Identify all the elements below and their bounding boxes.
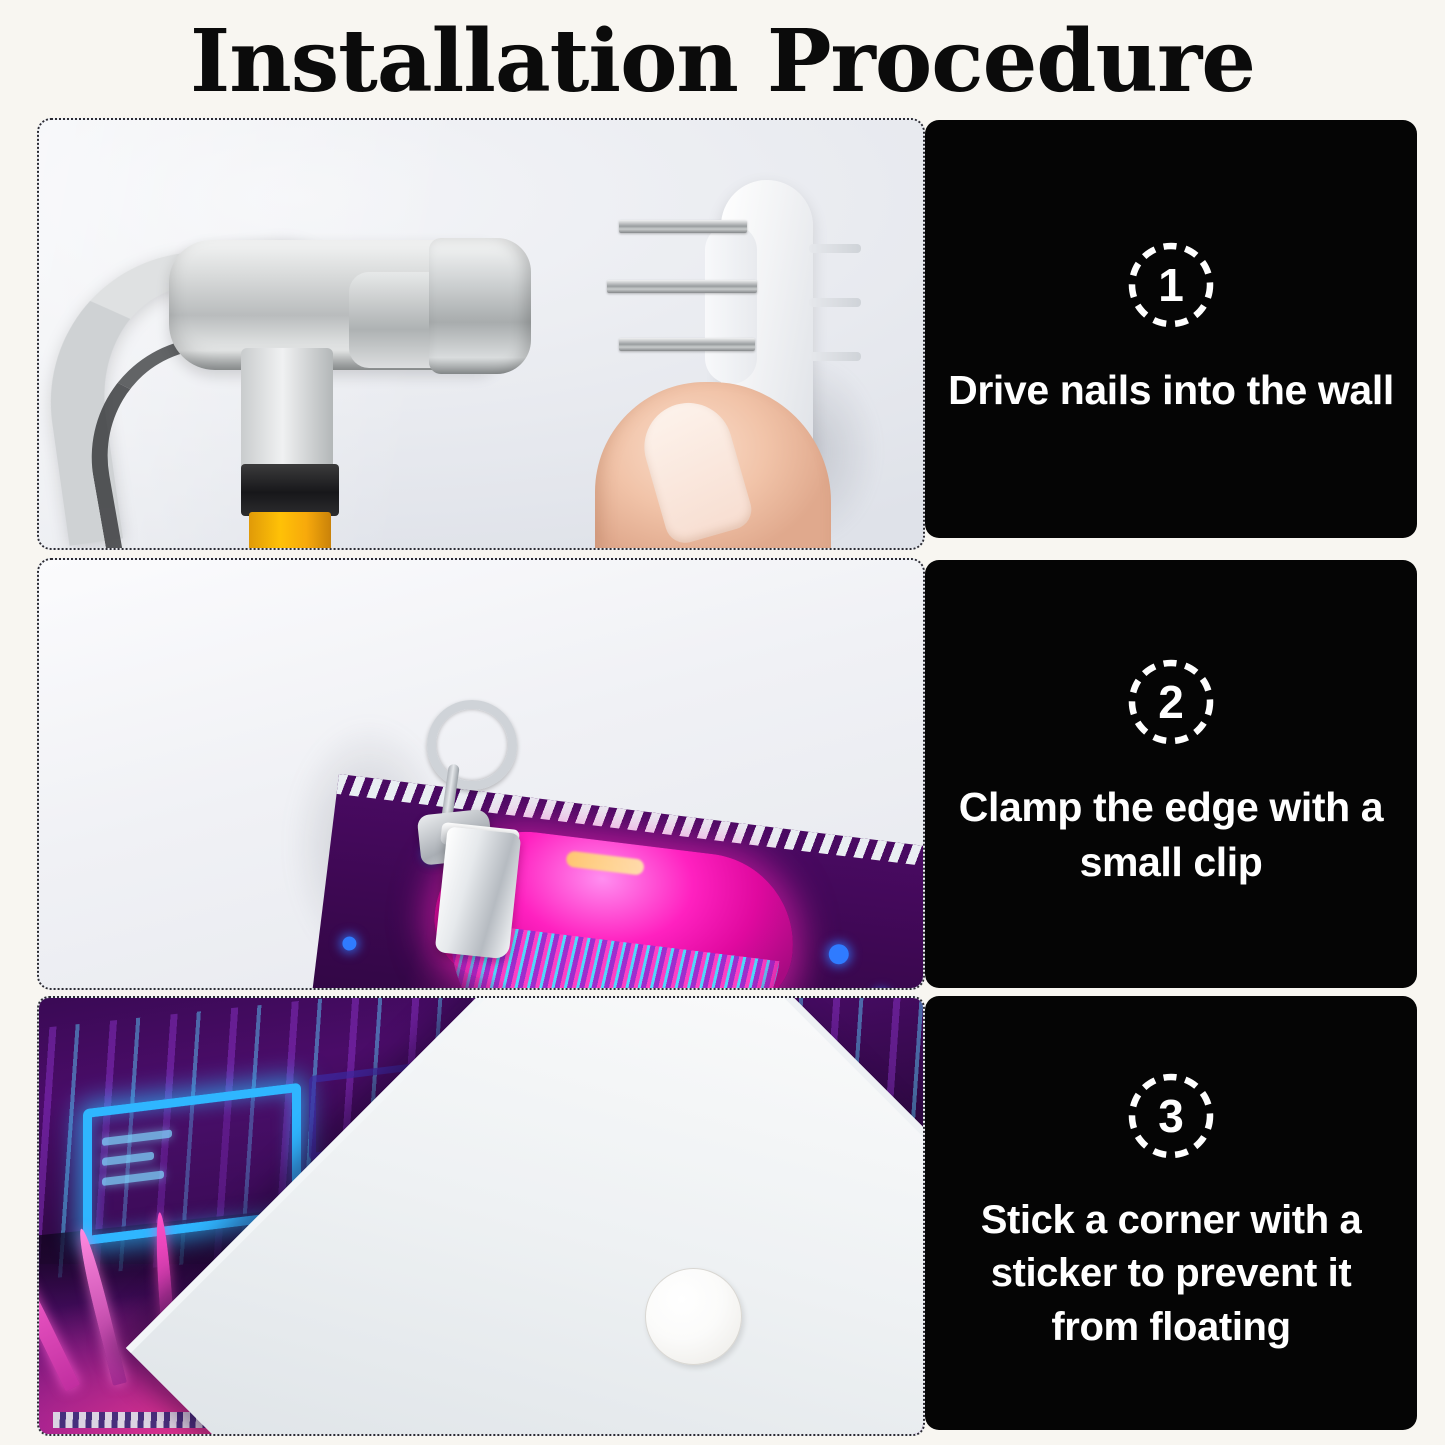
clip-jaw	[435, 826, 522, 959]
hammer-icon	[49, 212, 569, 550]
neon-bar	[102, 1129, 172, 1146]
hook-barb	[809, 298, 861, 307]
dashed-circle-badge-icon: 2	[1127, 658, 1215, 746]
step-number: 2	[1127, 658, 1215, 746]
nail-icon	[619, 338, 755, 351]
glow-dot	[828, 943, 850, 965]
hook-bulge	[705, 224, 757, 384]
neon-bar	[102, 1152, 154, 1166]
dashed-circle-badge-icon: 3	[1127, 1072, 1215, 1160]
metal-clip-icon	[399, 700, 539, 970]
hook-barb	[809, 352, 861, 361]
step-label: Clamp the edge with a small clip	[925, 780, 1417, 889]
neon-bar	[102, 1170, 164, 1186]
step-panel-3: 3 Stick a corner with a sticker to preve…	[925, 996, 1417, 1430]
nail-icon	[619, 220, 747, 233]
tapestry-corner-with-sticker-photo	[37, 996, 925, 1436]
step-row-3: 3 Stick a corner with a sticker to preve…	[0, 996, 1445, 1436]
clip-on-tapestry-photo	[37, 558, 925, 990]
step-number: 1	[1127, 241, 1215, 329]
step-label: Stick a corner with a sticker to prevent…	[925, 1194, 1417, 1354]
step-number: 3	[1127, 1072, 1215, 1160]
dashed-circle-badge-icon: 1	[1127, 241, 1215, 329]
hook-barb	[809, 244, 861, 253]
hammer-ferrule	[241, 464, 339, 516]
hammer-face	[429, 238, 531, 374]
page-title: Installation Procedure	[0, 16, 1445, 108]
round-sticker	[645, 1268, 742, 1365]
step-panel-1: 1 Drive nails into the wall	[925, 120, 1417, 538]
clip-ring	[427, 700, 517, 790]
glow-dot	[342, 936, 358, 952]
hammer-shaft	[241, 348, 333, 476]
nail-icon	[607, 280, 757, 293]
step-row-2: 2 Clamp the edge with a small clip	[0, 558, 1445, 990]
step-panel-2: 2 Clamp the edge with a small clip	[925, 560, 1417, 988]
hammer-handle	[249, 512, 331, 550]
installation-procedure-infographic: Installation Procedure	[0, 0, 1445, 1445]
hammer-and-wall-hook-photo	[37, 118, 925, 550]
step-label: Drive nails into the wall	[928, 363, 1414, 418]
step-row-1: 1 Drive nails into the wall	[0, 118, 1445, 550]
